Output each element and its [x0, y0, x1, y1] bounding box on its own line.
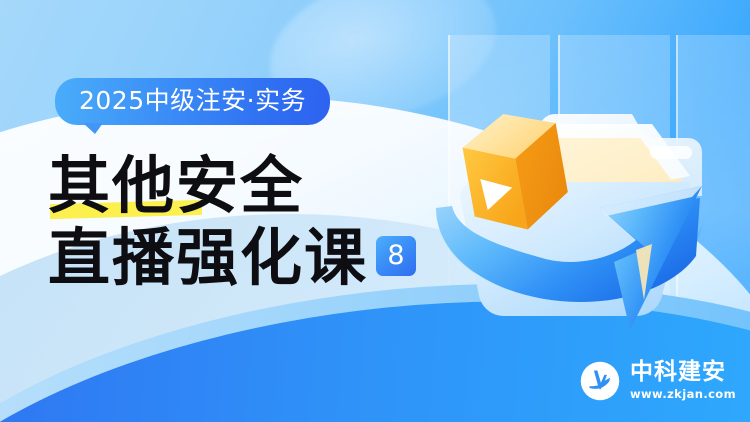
logo-text-group: 中科建安 www.zkjan.com — [630, 360, 736, 402]
headline-line-1-row: 其他安全 — [48, 150, 416, 222]
course-subject-badge[interactable]: 2025中级注安·实务 — [55, 78, 330, 125]
folder-tab-highlight — [650, 146, 692, 159]
brand-name: 中科建安 — [630, 360, 736, 385]
badge-tail — [83, 123, 103, 134]
headline-line-2: 直播强化课 — [48, 225, 368, 291]
course-subject-badge-label: 2025中级注安·实务 — [55, 78, 330, 125]
brand-logo[interactable]: 中科建安 www.zkjan.com — [579, 360, 736, 402]
course-illustration — [400, 0, 750, 350]
course-banner: 2025中级注安·实务 其他安全 直播强化课 8 中科建安 www.zkjan.… — [0, 0, 750, 422]
headline-line-1: 其他安全 — [48, 153, 304, 219]
episode-number-badge: 8 — [376, 236, 416, 276]
headline-line-2-row: 直播强化课 8 — [48, 222, 416, 294]
zkjan-logo-icon — [579, 360, 621, 402]
brand-url: www.zkjan.com — [630, 387, 736, 402]
course-headline: 其他安全 直播强化课 8 — [48, 150, 416, 294]
